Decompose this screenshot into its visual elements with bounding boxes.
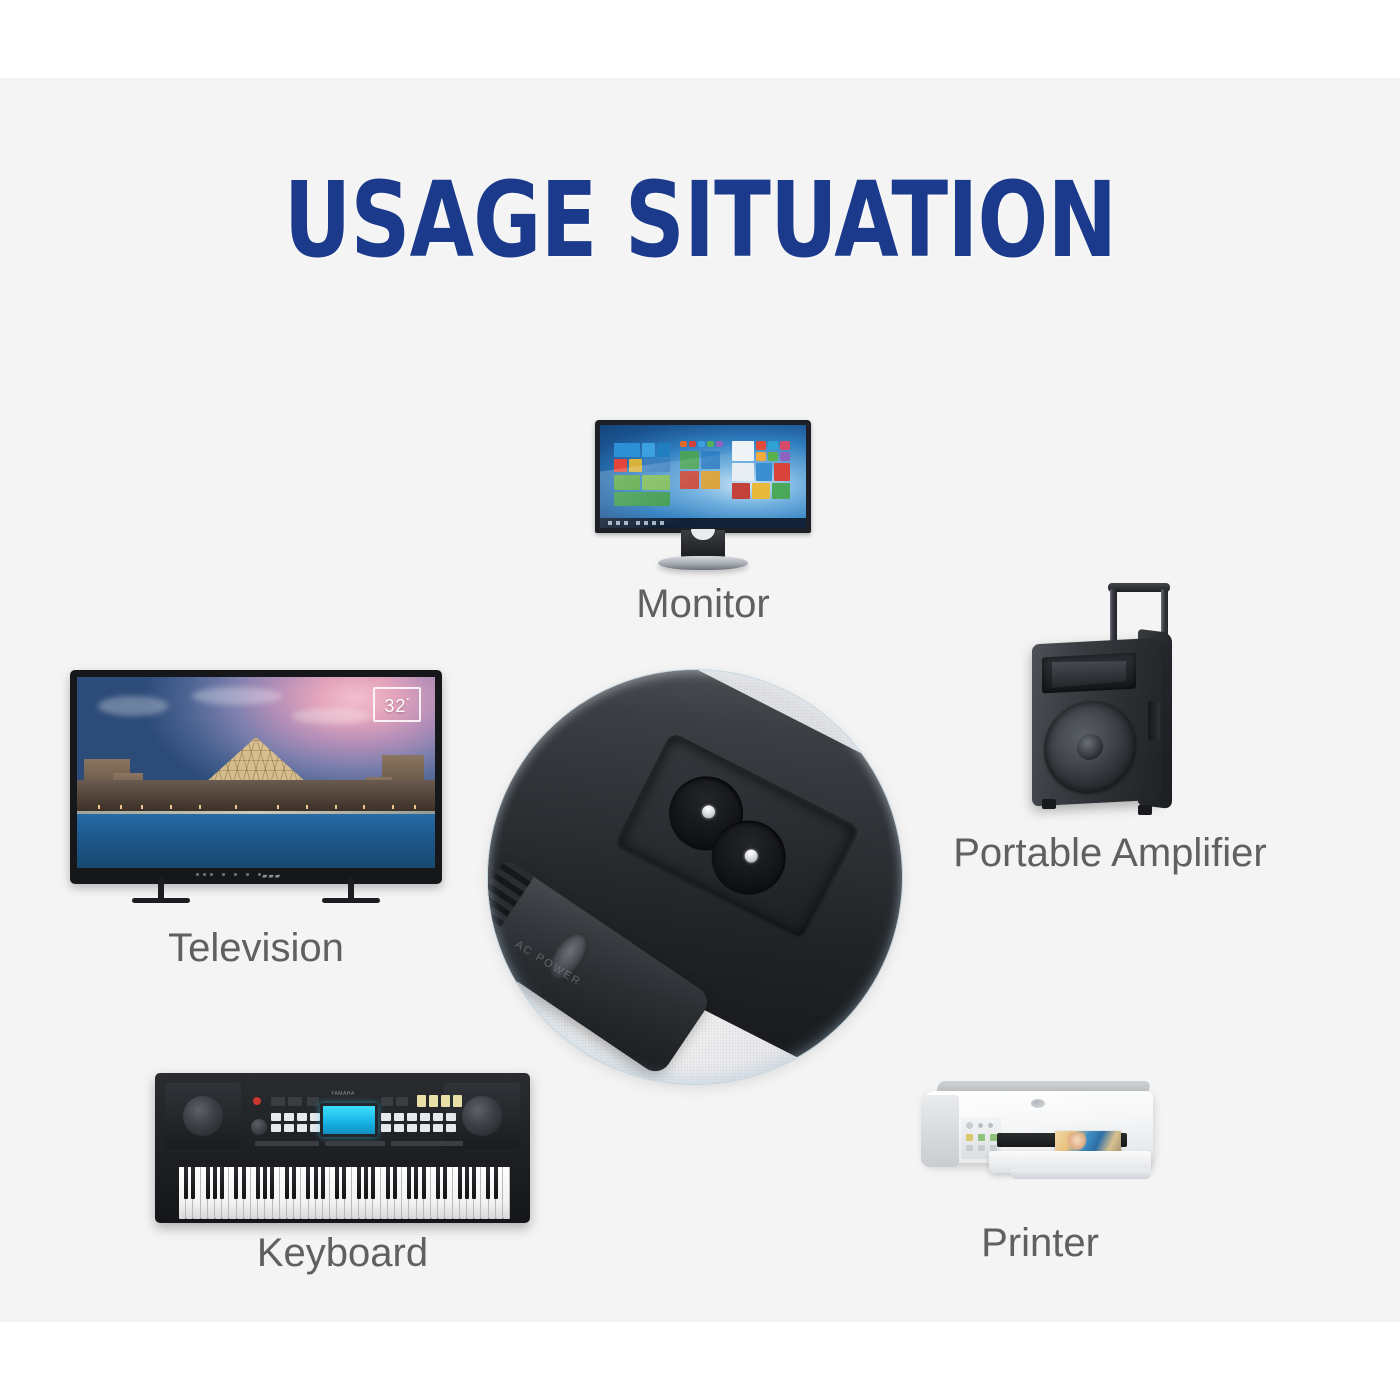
keyboard-button[interactable] xyxy=(381,1113,391,1121)
keyboard-illustration: YAMAHA xyxy=(155,1073,530,1223)
portable-amplifier-illustration xyxy=(1020,583,1190,818)
monitor-stand-base xyxy=(658,556,748,570)
page-title: USAGE SITUATION xyxy=(140,168,1260,272)
keyboard-button[interactable] xyxy=(271,1113,281,1121)
amp-foot-right xyxy=(1138,805,1152,815)
tv-size-badge: 32" xyxy=(373,687,421,722)
keyboard-button-row[interactable] xyxy=(325,1141,385,1146)
keyboard-label: Keyboard xyxy=(155,1230,530,1276)
printer-illustration xyxy=(915,1073,1165,1198)
television-label: Television xyxy=(70,925,442,971)
tv-brand-logo: ▰▰▰ xyxy=(262,872,281,880)
keyboard-button[interactable] xyxy=(284,1113,294,1121)
keyboard-button[interactable] xyxy=(429,1095,438,1107)
keyboard-button[interactable] xyxy=(271,1097,285,1106)
tv-screen: 32" xyxy=(77,677,435,868)
keyboard-button[interactable] xyxy=(441,1095,450,1107)
keyboard-button[interactable] xyxy=(307,1097,319,1106)
tv-cityscape xyxy=(77,780,435,811)
keyboard-record-button[interactable] xyxy=(253,1097,261,1105)
keyboard-button[interactable] xyxy=(433,1113,443,1121)
printer-brand-logo xyxy=(1031,1099,1045,1108)
monitor-screen xyxy=(595,420,811,533)
keyboard-button-row[interactable] xyxy=(255,1141,319,1146)
keyboard-button-row[interactable] xyxy=(391,1141,463,1146)
keyboard-button[interactable] xyxy=(271,1124,281,1132)
keyboard-button[interactable] xyxy=(381,1097,393,1106)
tv-bezel: 32" ▰▰▰ xyxy=(70,670,442,884)
monitor-label: Monitor xyxy=(595,581,811,627)
power-connector-closeup: AC POWER xyxy=(488,670,902,1084)
keyboard-button[interactable] xyxy=(310,1124,320,1132)
amp-horn-tweeter xyxy=(1042,653,1136,694)
keyboard-button[interactable] xyxy=(420,1124,430,1132)
tv-control-indicators xyxy=(196,873,316,878)
keyboard-button[interactable] xyxy=(394,1124,404,1132)
infographic-canvas: USAGE SITUATION xyxy=(0,78,1400,1322)
amp-side-grab-handle xyxy=(1148,700,1160,741)
keyboard-dial[interactable] xyxy=(251,1119,267,1135)
keyboard-button[interactable] xyxy=(310,1113,320,1121)
tv-stand-leg-left xyxy=(158,878,164,900)
keyboard-button[interactable] xyxy=(381,1124,391,1132)
keyboard-button[interactable] xyxy=(446,1124,456,1132)
printer-left-panel xyxy=(921,1095,959,1167)
keyboard-button[interactable] xyxy=(297,1113,307,1121)
printer-label: Printer xyxy=(915,1220,1165,1266)
keyboard-button[interactable] xyxy=(453,1095,462,1107)
windows-desktop-wallpaper xyxy=(600,425,806,528)
keyboard-button[interactable] xyxy=(297,1124,307,1132)
keyboard-button[interactable] xyxy=(417,1095,426,1107)
keyboard-button[interactable] xyxy=(407,1113,417,1121)
keyboard-button[interactable] xyxy=(420,1113,430,1121)
keyboard-button[interactable] xyxy=(446,1113,456,1121)
amp-foot-left xyxy=(1042,799,1056,809)
keyboard-chassis: YAMAHA xyxy=(155,1073,530,1223)
portable-amplifier-label: Portable Amplifier xyxy=(945,830,1275,876)
keyboard-lcd-display xyxy=(320,1103,378,1137)
tv-reflecting-pool xyxy=(77,811,435,868)
windows-start-tiles xyxy=(614,441,794,509)
monitor-illustration xyxy=(595,420,811,572)
television-illustration: 32" ▰▰▰ xyxy=(70,670,442,905)
keyboard-control-panel: YAMAHA xyxy=(155,1073,530,1165)
keyboard-button[interactable] xyxy=(284,1124,294,1132)
printer-tray-extension xyxy=(1011,1169,1151,1179)
keyboard-button[interactable] xyxy=(396,1097,408,1106)
tv-stand-leg-right xyxy=(348,878,354,900)
keyboard-keys[interactable] xyxy=(179,1167,509,1219)
keyboard-button[interactable] xyxy=(407,1124,417,1132)
windows-taskbar xyxy=(600,518,806,528)
keyboard-button[interactable] xyxy=(433,1124,443,1132)
keyboard-speaker-left xyxy=(165,1083,241,1149)
plug-embossed-text: AC POWER xyxy=(513,938,584,988)
keyboard-button[interactable] xyxy=(394,1113,404,1121)
infographic-page: USAGE SITUATION xyxy=(0,0,1400,1400)
keyboard-button[interactable] xyxy=(288,1097,302,1106)
plug-cable-end xyxy=(488,858,534,957)
